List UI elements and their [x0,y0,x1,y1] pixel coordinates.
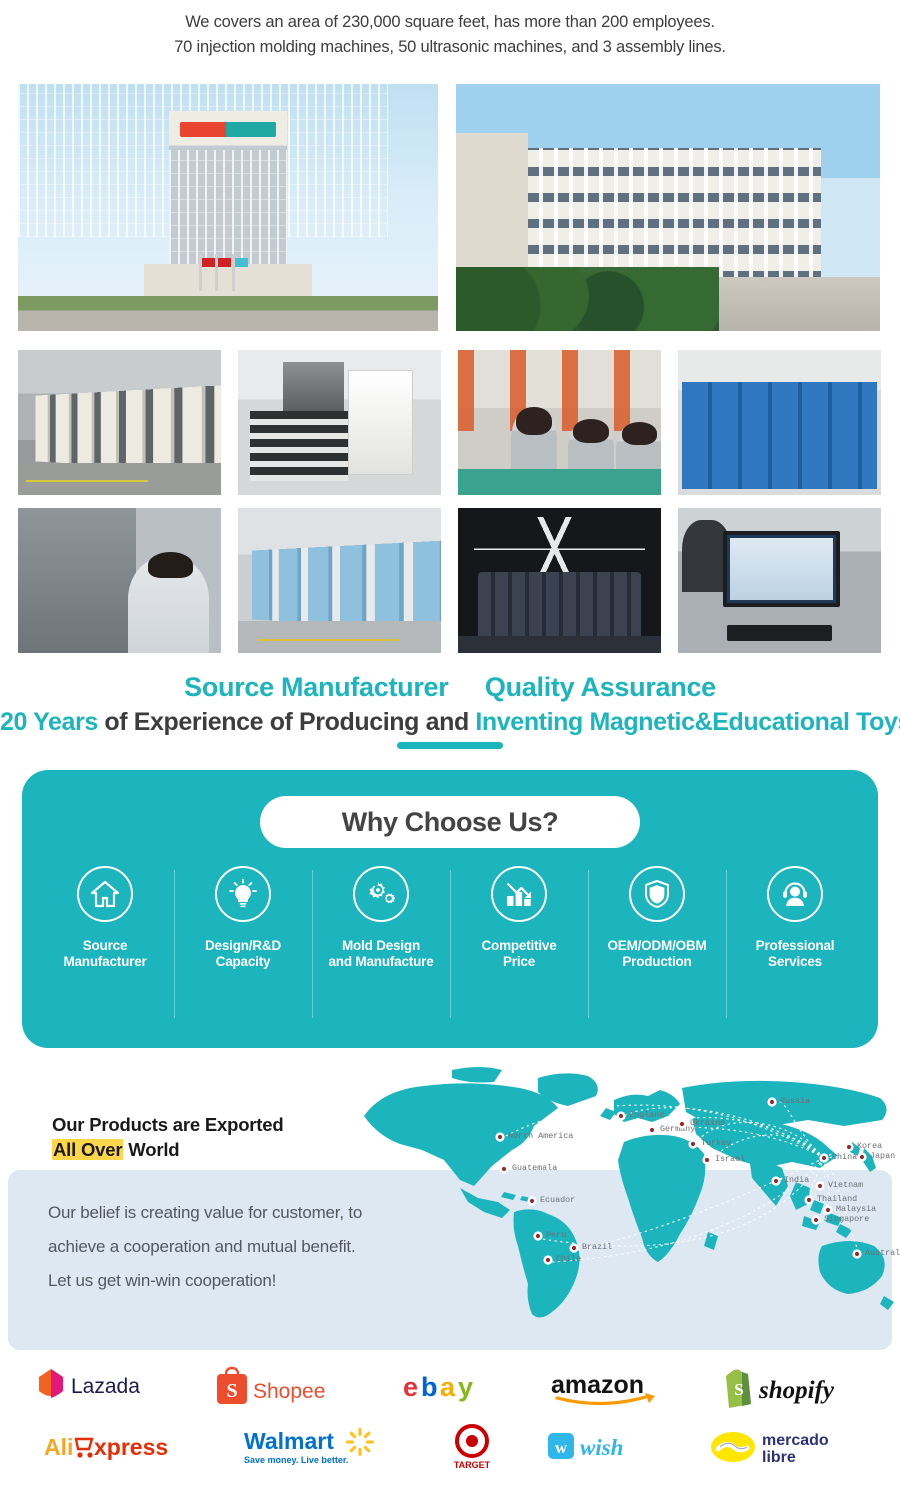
map-marker-dot [572,1246,576,1250]
headline-experience: of Experience of Producing and [98,708,476,736]
belief-line-1: Our belief is creating value for custome… [48,1196,398,1230]
headline-line-1: Source Manufacturer Quality Assurance [0,672,900,702]
svg-text:mercado: mercado [762,1432,829,1449]
svg-text:y: y [458,1372,473,1402]
map-marker-dot [855,1252,859,1256]
svg-text:Shopee: Shopee [253,1380,325,1403]
map-label: Brazil [582,1242,612,1252]
why-choose-us-title: Why Choose Us? [342,807,558,838]
why-choose-us-columns: Source Manufacturer Design/R&D Capacity [36,866,864,1026]
map-label: Chile [556,1254,581,1264]
flag-red-2 [215,254,218,291]
export-title: Our Products are Exported All Over World [52,1112,382,1162]
map-label: Korea [857,1141,882,1151]
headline-divider-bar [397,742,503,749]
map-marker-dot [546,1258,550,1262]
svg-text:TARGET: TARGET [454,1460,491,1470]
why-item-label: Source Manufacturer [63,938,146,970]
map-marker-dot [774,1179,778,1183]
factory-trees [456,267,719,331]
production-line-hall-photo [238,508,441,653]
map-label: India [784,1175,809,1185]
shopee-logo[interactable]: S Shopee [213,1360,361,1414]
intro-line-2: 70 injection molding machines, 50 ultras… [0,35,900,60]
export-title-line-1: Our Products are Exported [52,1114,283,1135]
why-item-competitive-price[interactable]: Competitive Price [450,866,588,1026]
svg-text:Walmart: Walmart [244,1428,334,1454]
map-label: Ecuador [540,1195,575,1205]
map-label: Japan [870,1151,895,1161]
flag-red [199,254,202,291]
map-label: China [832,1152,857,1162]
why-item-design-rd[interactable]: Design/R&D Capacity [174,866,312,1026]
map-marker-dot [619,1114,623,1118]
intro-text-block: We covers an area of 230,000 square feet… [0,10,900,60]
why-item-source-manufacturer[interactable]: Source Manufacturer [36,866,174,1026]
cnc-machining-center-photo [238,350,441,495]
platform-logos-section: Lazada S Shopee e b a y [0,1355,900,1485]
map-label: Malaysia [836,1204,876,1214]
walmart-logo[interactable]: Walmart Save money. Live better. [242,1420,400,1474]
factory-road [710,277,880,331]
map-marker-dot [814,1218,818,1222]
map-marker-dot [650,1128,654,1132]
injection-molding-machines-photo [18,350,221,495]
map-label: Guatemala [512,1163,557,1173]
why-item-label: OEM/ODM/OBM Production [607,938,706,970]
svg-text:Lazada: Lazada [71,1375,140,1398]
svg-text:w: w [555,1438,568,1457]
platform-logos-row-2: Ali xpress Walmart [0,1417,900,1477]
gears-icon [353,866,409,922]
flag-teal [232,254,235,291]
headline-source-manufacturer: Source Manufacturer [184,672,448,702]
map-label: Thailand [817,1194,857,1204]
svg-text:b: b [421,1372,438,1402]
svg-text:xpress: xpress [94,1434,168,1460]
mercado-libre-logo[interactable]: mercado libre [708,1420,858,1474]
map-marker-dot [860,1155,864,1159]
bar-chart-icon [491,866,547,922]
svg-text:shopify: shopify [758,1377,835,1404]
lazada-logo[interactable]: Lazada [33,1360,173,1414]
svg-text:e: e [403,1372,418,1402]
map-marker-dot [807,1198,811,1202]
map-marker-dot [705,1158,709,1162]
export-title-highlight: All Over [52,1139,123,1160]
map-label: Peru [546,1230,566,1240]
map-marker-dot [847,1145,851,1149]
headline-20-years: 20 Years [0,708,98,736]
map-label: Singapore [824,1214,869,1224]
factory-building-aerial-photo [456,84,880,331]
target-logo[interactable]: TARGET [440,1420,504,1474]
lightbulb-icon [215,866,271,922]
map-label: Russia [780,1096,810,1106]
headline-inventing: Inventing Magnetic&Educational Toys [475,708,900,736]
svg-text:wish: wish [580,1435,623,1460]
svg-text:S: S [226,1380,237,1402]
map-label: Turkey [701,1138,731,1148]
why-item-label: Professional Services [756,938,835,970]
map-marker-dot [502,1167,506,1171]
aliexpress-logo[interactable]: Ali xpress [42,1420,202,1474]
team-group-photo [458,508,661,653]
svg-text:libre: libre [762,1449,796,1466]
amazon-logo[interactable]: amazon [549,1360,679,1414]
map-label: Australia [865,1248,900,1258]
map-label: North America [508,1131,573,1141]
shield-icon [629,866,685,922]
product-detail-page: We covers an area of 230,000 square feet… [0,0,900,1488]
why-item-oem-odm-obm[interactable]: OEM/ODM/OBM Production [588,866,726,1026]
why-item-mold-design[interactable]: Mold Design and Manufacture [312,866,450,1026]
map-marker-dot [680,1122,684,1126]
why-choose-us-section: Why Choose Us? Source Manufacturer [22,770,878,1048]
mold-inspection-worker-photo [18,508,221,653]
svg-text:a: a [440,1372,456,1402]
map-label: Vietnam [828,1180,863,1190]
assembly-workers-photo [458,350,661,495]
map-marker-dot [691,1142,695,1146]
map-label: England [629,1110,664,1120]
belief-text: Our belief is creating value for custome… [48,1196,398,1298]
ebay-logo[interactable]: e b a y [401,1360,509,1414]
why-item-professional-services[interactable]: Professional Services [726,866,864,1026]
home-icon [77,866,133,922]
belief-line-2: achieve a cooperation and mutual benefit… [48,1230,398,1264]
why-item-label: Design/R&D Capacity [205,938,281,970]
intro-line-1: We covers an area of 230,000 square feet… [0,10,900,35]
export-title-line-2-rest: World [123,1139,179,1160]
why-choose-us-title-pill: Why Choose Us? [260,796,640,848]
map-marker-dot [536,1234,540,1238]
wish-logo[interactable]: w wish [544,1420,668,1474]
why-item-label: Competitive Price [481,938,556,970]
platform-logos-row-1: Lazada S Shopee e b a y [0,1357,900,1417]
map-marker-dot [822,1156,826,1160]
world-map: North AmericaGuatemalaEcuadorPeruBrazilC… [352,1064,900,1326]
map-label: Israel [715,1154,745,1164]
blue-crates-warehouse-photo [678,350,881,495]
headline-line-2: 20 Years of Experience of Producing and … [0,708,900,736]
map-marker-dot [530,1199,534,1203]
headset-user-icon [767,866,823,922]
office-building-front-photo [18,84,438,331]
office-ground [18,296,438,331]
map-label: Ukraine [690,1118,725,1128]
map-marker-dot [498,1135,502,1139]
svg-text:Save money. Live better.: Save money. Live better. [244,1455,348,1465]
design-workstation-photo [678,508,881,653]
belief-line-3: Let us get win-win cooperation! [48,1264,398,1298]
why-item-label: Mold Design and Manufacture [328,938,433,970]
joytop-sign [180,122,277,137]
headline-quality-assurance: Quality Assurance [485,672,716,702]
shopify-logo[interactable]: S shopify [719,1360,867,1414]
map-marker-dot [818,1184,822,1188]
svg-text:amazon: amazon [551,1371,644,1399]
map-marker-dot [826,1208,830,1212]
svg-text:S: S [734,1380,743,1399]
svg-text:Ali: Ali [44,1434,73,1460]
map-marker-dot [770,1100,774,1104]
